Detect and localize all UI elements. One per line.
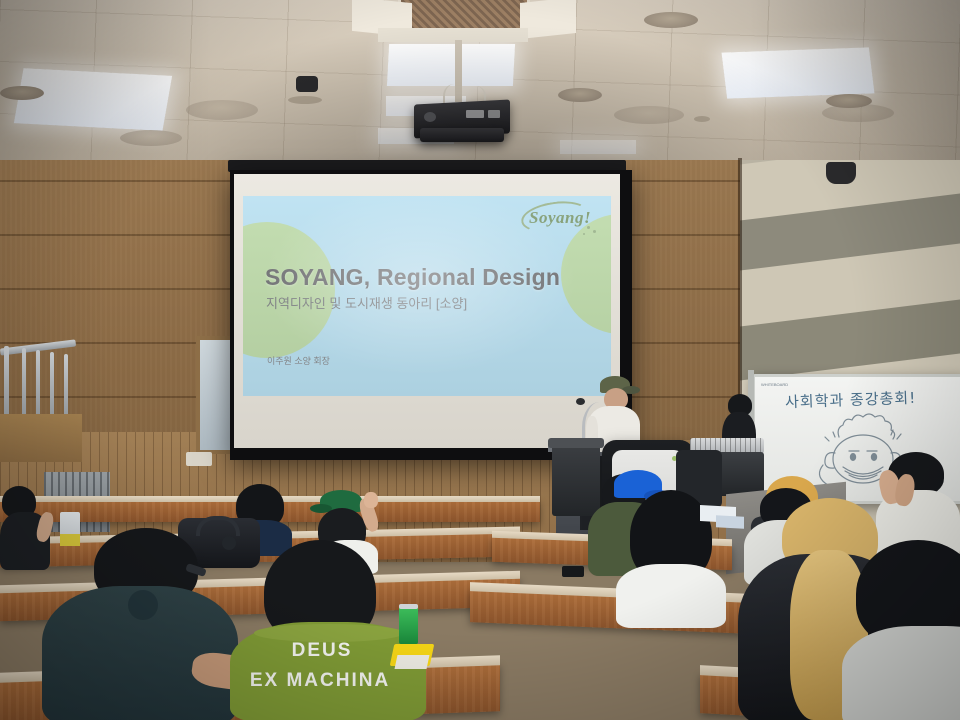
can-top xyxy=(399,604,418,609)
ceiling-shading xyxy=(0,0,960,166)
wall-speaker xyxy=(826,162,856,184)
whiteboard-brand-tag: WHITEBOARD xyxy=(761,382,788,387)
wall-outlet xyxy=(186,452,212,466)
floor-speaker-top xyxy=(548,438,604,448)
drink-cup-band xyxy=(60,534,80,546)
railing-baluster xyxy=(36,350,40,418)
phone-on-desk xyxy=(338,570,350,600)
lecture-hall-photo: Soyang! SOYANG, Regional Design 지역디자인 및 … xyxy=(0,0,960,720)
torso-white xyxy=(616,564,726,628)
railing-post xyxy=(4,346,9,420)
hand xyxy=(364,492,378,508)
phone-on-desk-right xyxy=(562,566,584,577)
ceiling xyxy=(0,0,960,166)
railing-baluster xyxy=(64,354,68,418)
paper-on-desk xyxy=(716,515,744,528)
audience-person-teal-polo xyxy=(42,528,242,720)
shirt-text-line2: EX MACHINA xyxy=(230,670,410,692)
torso-hoodie xyxy=(842,626,960,720)
polo-collar xyxy=(128,590,158,620)
stair-railing xyxy=(0,330,78,460)
snack-cup xyxy=(395,655,430,669)
microphone-head xyxy=(576,398,585,405)
railing-baluster xyxy=(50,352,54,418)
soda-can xyxy=(399,606,418,644)
shirt-text-line1: DEUS xyxy=(252,640,392,662)
presentation-slide: Soyang! SOYANG, Regional Design 지역디자인 및 … xyxy=(243,196,611,396)
whiteboard-text: 사회학과 종강총회! xyxy=(785,387,917,413)
audience-person-foreground-right xyxy=(856,540,960,720)
railing-base-panel xyxy=(0,414,82,462)
slide-projection-glow xyxy=(243,196,611,396)
railing-baluster xyxy=(22,348,26,418)
